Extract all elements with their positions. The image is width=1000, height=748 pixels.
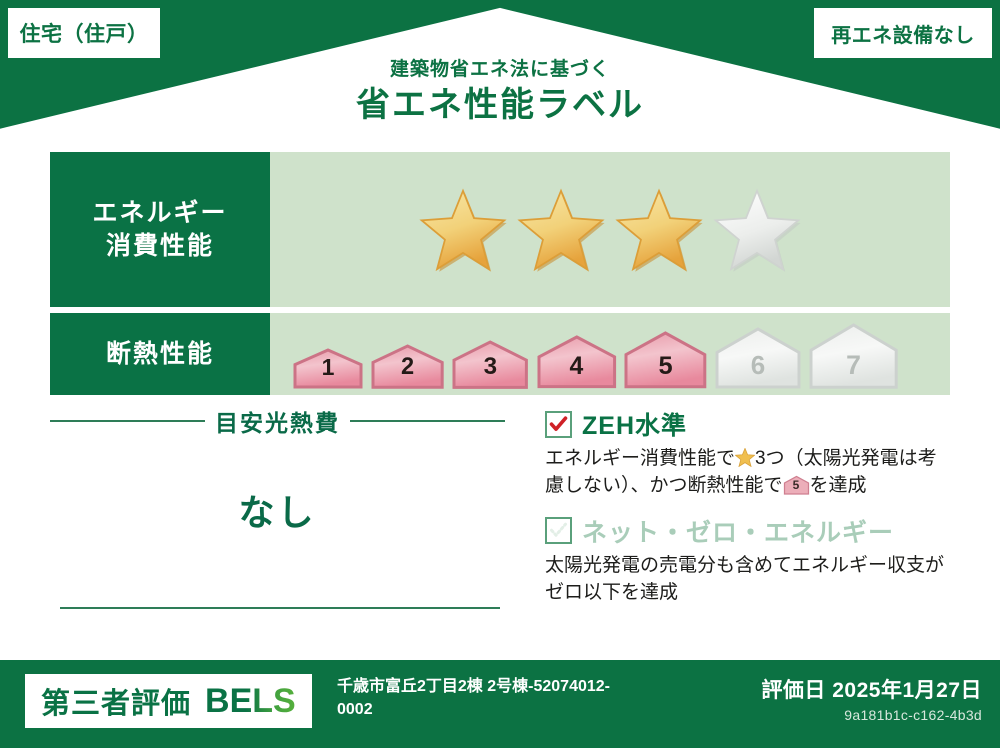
- net-zero-description: 太陽光発電の売電分も含めてエネルギー収支がゼロ以下を達成: [545, 553, 955, 607]
- insulation-level-number: 4: [536, 353, 618, 381]
- energy-performance-label: 住宅（住戸） 再エネ設備なし 建築物省エネ法に基づく 省エネ性能ラベル エネルギ…: [0, 0, 1000, 748]
- insulation-level-number: 1: [292, 354, 364, 381]
- utility-cost-column: 目安光熱費 なし: [50, 404, 505, 536]
- label-subtitle: 建築物省エネ法に基づく: [0, 58, 1000, 82]
- energy-performance-row: エネルギー 消費性能: [50, 152, 950, 307]
- energy-performance-label: エネルギー 消費性能: [50, 152, 270, 307]
- zeh-desc-pre: エネルギー消費性能で: [545, 448, 735, 469]
- zeh-standard-heading: ZEH水準: [545, 406, 955, 442]
- star-rating: [270, 152, 950, 307]
- insulation-performance-label: 断熱性能: [50, 313, 270, 395]
- evaluation-id: 9a181b1c-c162-4b3d: [761, 707, 982, 723]
- insulation-level-achieved: 1: [292, 319, 364, 389]
- zeh-standard-description: エネルギー消費性能で 3つ（太陽光発電は考慮しない）、かつ断熱性能で 5を達成: [545, 446, 955, 500]
- zeh-standard-block: ZEH水準 エネルギー消費性能で 3つ（太陽光発電は考慮しない）、かつ断熱性能で…: [545, 406, 955, 500]
- rule-bottom: [60, 607, 500, 609]
- insulation-level-scale: 1234567: [270, 313, 950, 395]
- rule-right: [350, 420, 505, 422]
- utility-cost-value: なし: [50, 484, 505, 536]
- page-title: 省エネ性能ラベル: [0, 84, 1000, 127]
- zeh-column: ZEH水準 エネルギー消費性能で 3つ（太陽光発電は考慮しない）、かつ断熱性能で…: [545, 406, 955, 607]
- energy-label-line2: 消費性能: [106, 230, 214, 263]
- checkbox-unchecked-icon[interactable]: [545, 517, 572, 544]
- insulation-level-number: 6: [714, 350, 802, 381]
- insulation-performance-row: 断熱性能 1234567: [50, 313, 950, 395]
- property-address: 千歳市富丘2丁目2棟 2号棟-52074012-0002: [337, 676, 637, 721]
- energy-label-line1: エネルギー: [92, 197, 227, 230]
- evaluation-date: 評価日 2025年1月27日: [761, 674, 982, 704]
- star-empty-icon: [713, 188, 801, 272]
- insulation-level-number: 7: [808, 350, 899, 381]
- insulation-level-achieved: 4: [536, 319, 618, 389]
- insulation-level-achieved: 3: [451, 319, 529, 389]
- bels-logo: 第三者評価 BELS: [25, 674, 312, 728]
- bels-logo-jp: 第三者評価: [41, 680, 191, 722]
- insulation-level-inactive: 7: [808, 319, 899, 389]
- star-icon-inline: [735, 448, 755, 467]
- net-zero-title: ネット・ゼロ・エネルギー: [582, 513, 894, 549]
- utility-cost-title: 目安光熱費: [215, 404, 340, 438]
- rule-left: [50, 420, 205, 422]
- insulation-level-achieved: 2: [370, 319, 445, 389]
- utility-cost-heading: 目安光熱費: [50, 404, 505, 438]
- star-filled-icon: [419, 188, 507, 272]
- bels-logo-en: BELS: [205, 682, 296, 721]
- checkbox-checked-icon[interactable]: [545, 411, 572, 438]
- star-filled-icon: [517, 188, 605, 272]
- renewable-energy-badge: 再エネ設備なし: [814, 8, 992, 58]
- net-zero-heading: ネット・ゼロ・エネルギー: [545, 513, 955, 549]
- net-zero-energy-block: ネット・ゼロ・エネルギー 太陽光発電の売電分も含めてエネルギー収支がゼロ以下を達…: [545, 513, 955, 607]
- evaluation-info: 評価日 2025年1月27日 9a181b1c-c162-4b3d: [761, 674, 982, 723]
- star-filled-icon: [615, 188, 703, 272]
- zeh-desc-post: を達成: [810, 475, 867, 496]
- building-type-badge: 住宅（住戸）: [8, 8, 160, 58]
- insulation-level-number: 5: [623, 352, 708, 381]
- insulation-level-number: 2: [370, 354, 445, 381]
- lower-section: 目安光熱費 なし ZEH水準 エネルギー消費性能で: [0, 400, 1000, 630]
- label-title-block: 建築物省エネ法に基づく 省エネ性能ラベル: [0, 58, 1000, 126]
- insulation-level-achieved: 5: [623, 319, 708, 389]
- insulation-level-number: 3: [451, 353, 529, 381]
- zeh-standard-title: ZEH水準: [582, 406, 687, 442]
- insulation-level-inactive: 6: [714, 319, 802, 389]
- house-icon-inline: 5: [783, 475, 810, 495]
- house-icon-number: 5: [783, 477, 810, 494]
- label-footer: 第三者評価 BELS 千歳市富丘2丁目2棟 2号棟-52074012-0002 …: [0, 660, 1000, 748]
